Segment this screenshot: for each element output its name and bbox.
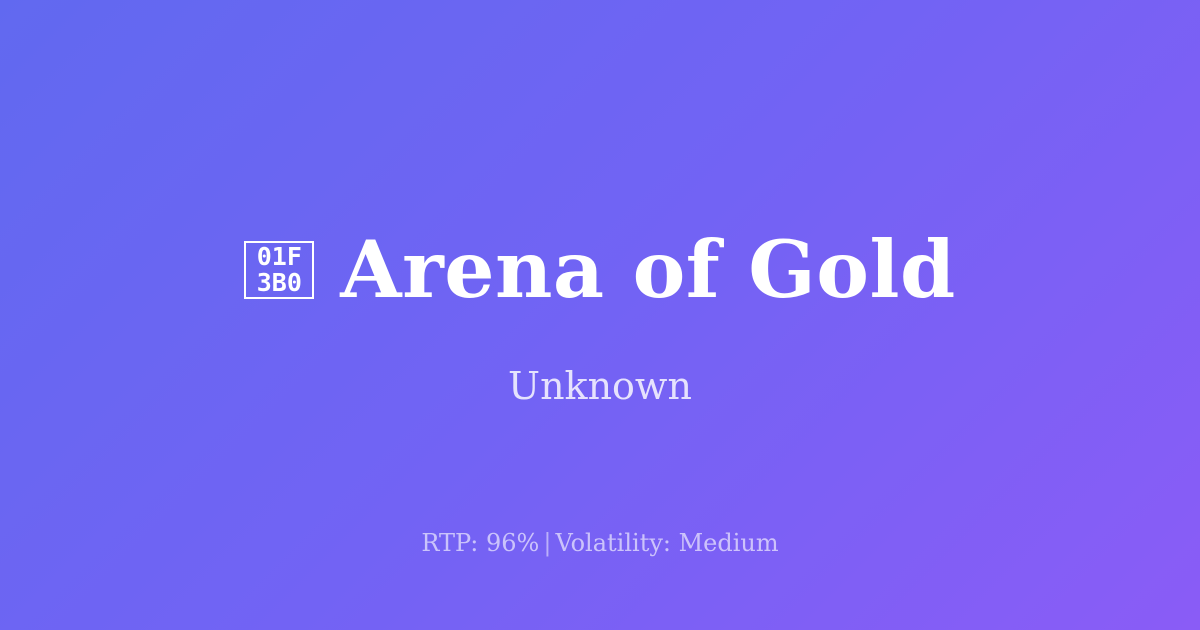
tofu-codepoint-bottom: 3B0	[257, 270, 302, 296]
rtp-stat: RTP: 96%	[421, 529, 539, 557]
game-og-card: 01F 3B0 Arena of Gold Unknown RTP: 96%|V…	[0, 0, 1200, 630]
game-title: Arena of Gold	[340, 228, 955, 312]
game-provider: Unknown	[0, 363, 1200, 409]
volatility-stat: Volatility: Medium	[555, 529, 778, 557]
slot-machine-emoji-icon: 01F 3B0	[244, 241, 314, 299]
stats-separator: |	[539, 529, 555, 557]
game-stats: RTP: 96%|Volatility: Medium	[0, 528, 1200, 558]
tofu-codepoint-top: 01F	[257, 244, 302, 270]
title-row: 01F 3B0 Arena of Gold	[0, 228, 1200, 312]
